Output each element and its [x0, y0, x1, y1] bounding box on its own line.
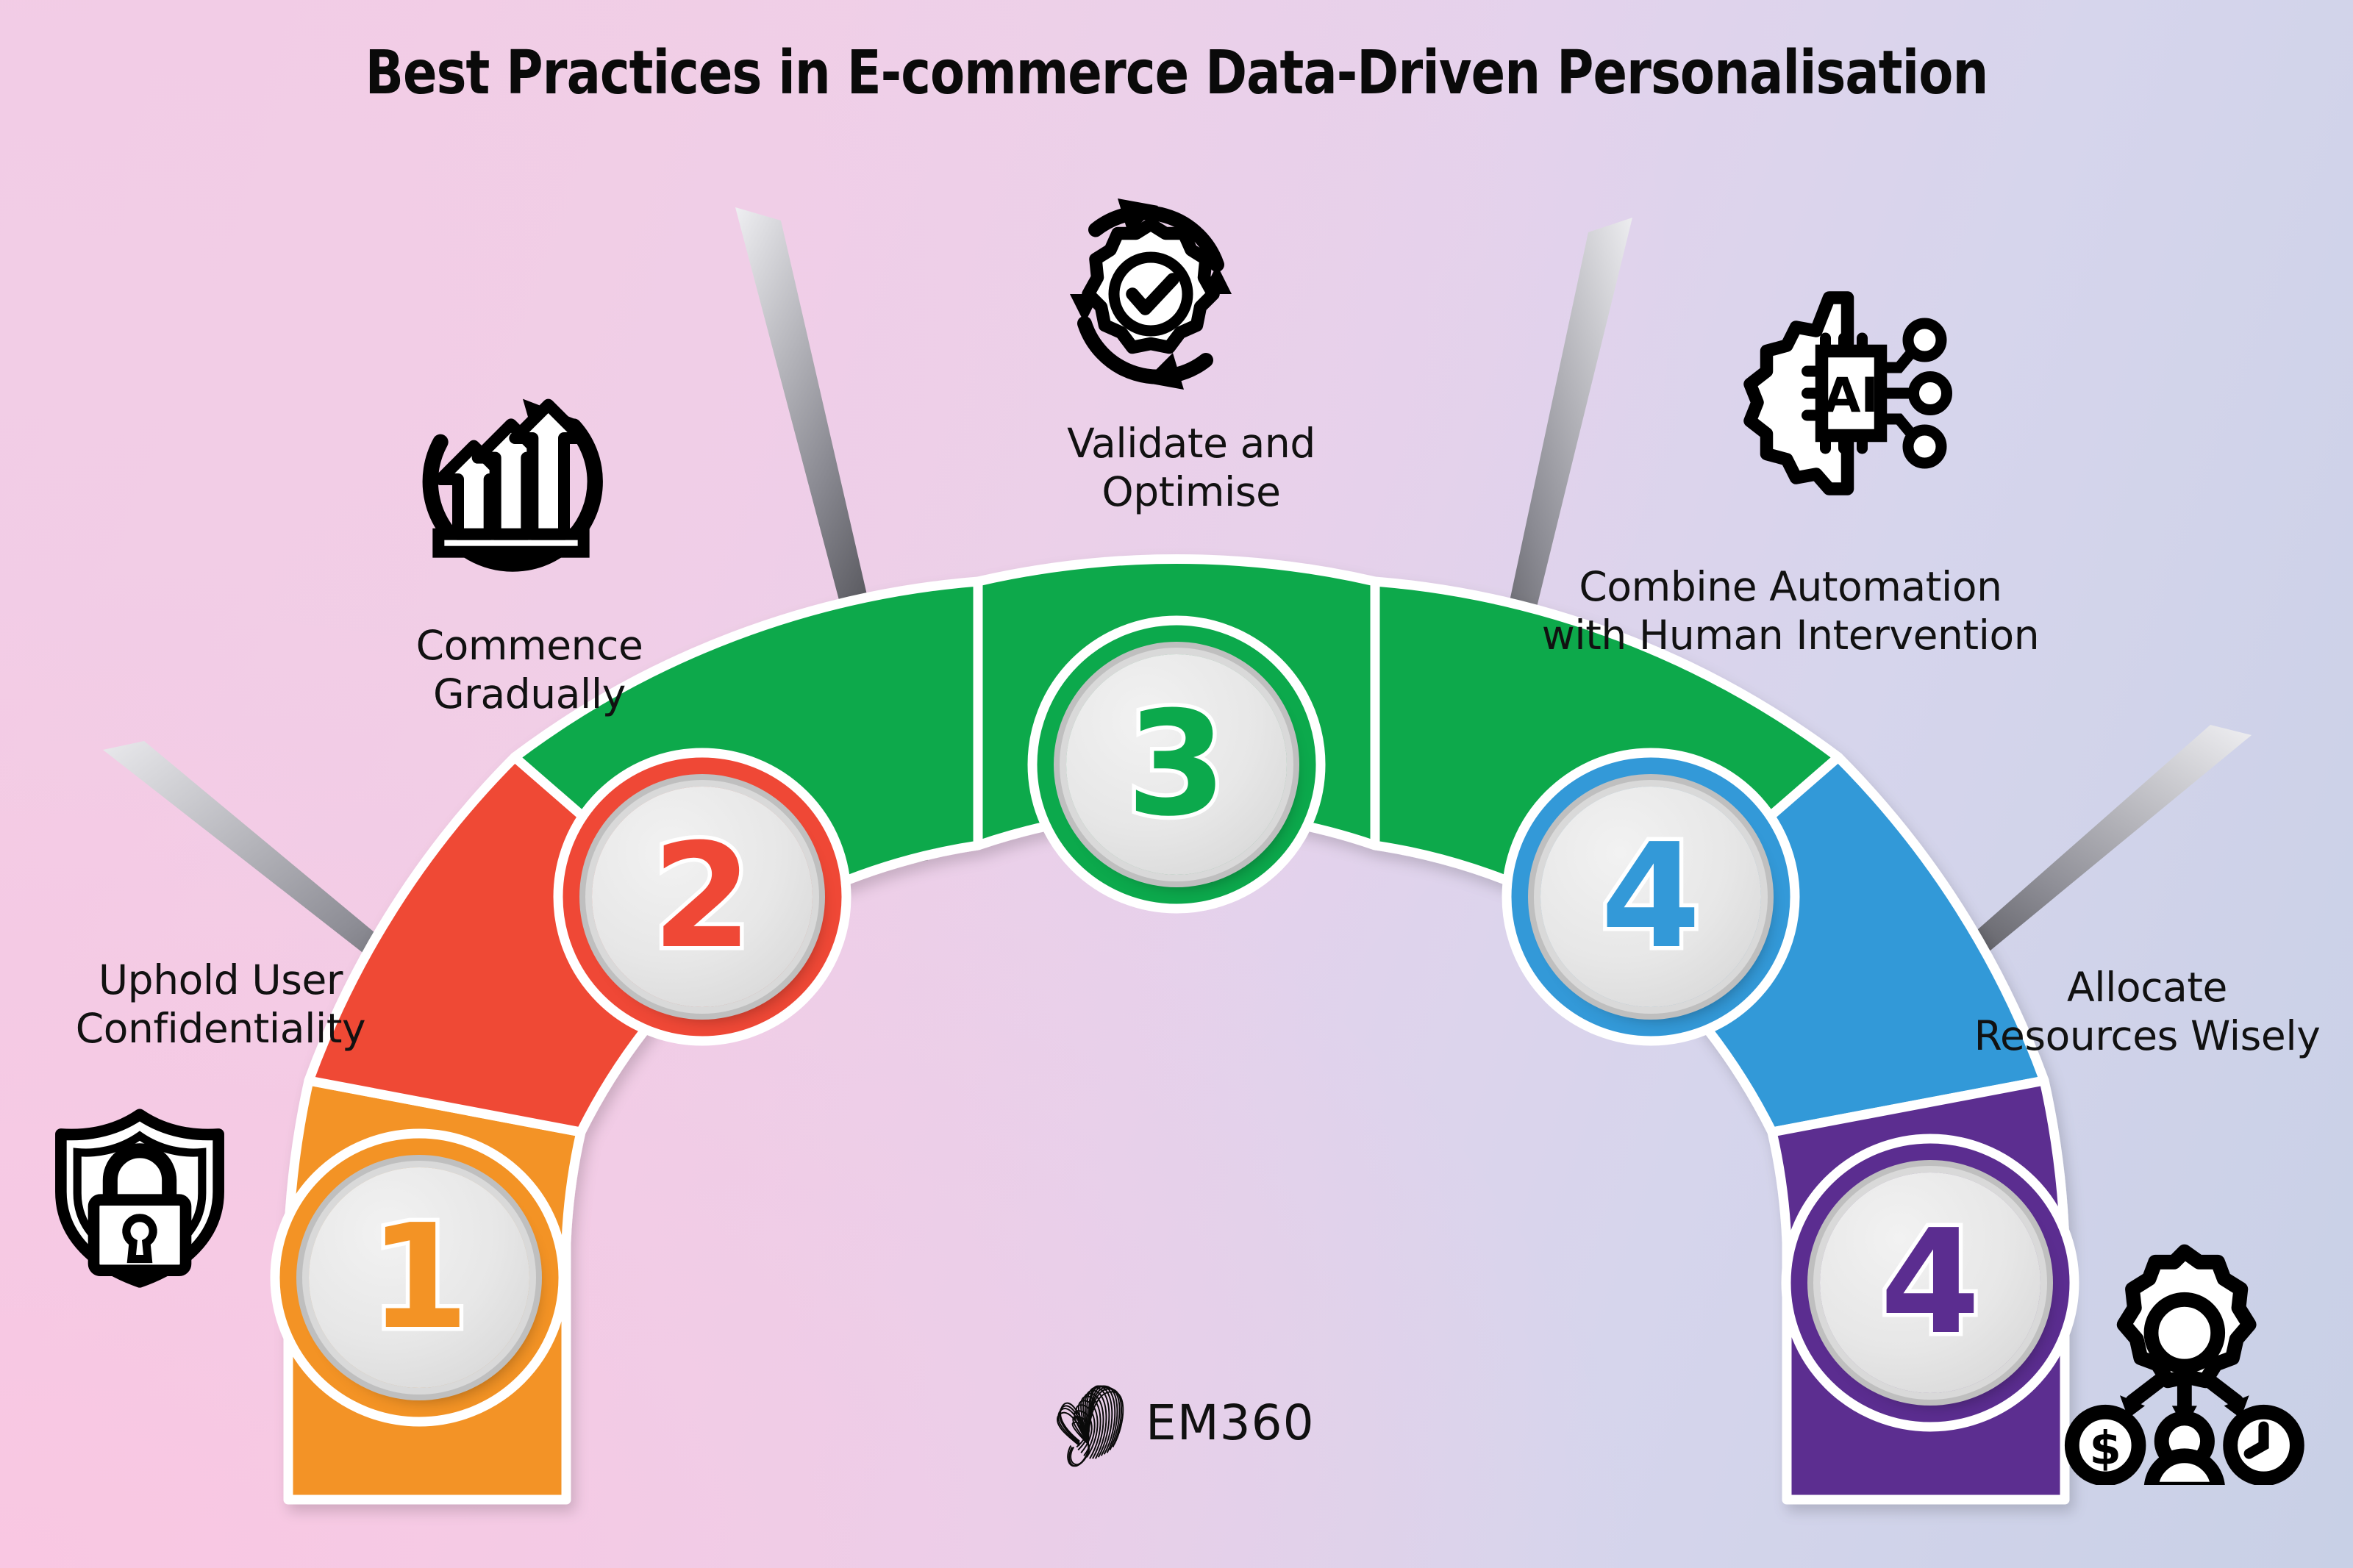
step-badge-1[interactable]: 1 — [309, 1167, 529, 1388]
step-number-1: 1 — [369, 1206, 469, 1350]
step-number-3: 3 — [1126, 692, 1227, 837]
step-label-2: Commence Gradually — [353, 621, 706, 718]
step-label-1: Uphold User Confidentiality — [29, 956, 412, 1053]
step-number-4: 4 — [1601, 825, 1701, 969]
step-number-2: 2 — [652, 825, 752, 969]
step-badge-2[interactable]: 2 — [592, 787, 813, 1007]
svg-text:$: $ — [2089, 1422, 2121, 1475]
infographic-stage: Best Practices in E-commerce Data-Driven… — [0, 0, 2353, 1568]
step-badge-3[interactable]: 3 — [1066, 654, 1287, 875]
em360-fingerprint-mark — [1044, 1375, 1132, 1470]
step-number-5: 4 — [1880, 1211, 1980, 1355]
svg-text:AI: AI — [1824, 368, 1879, 423]
step-label-3: Validate and Optimise — [978, 419, 1404, 516]
shield-lock-icon — [40, 1106, 239, 1293]
growth-arrows-cycle-icon — [393, 368, 629, 606]
step-label-5: Allocate Resources Wisely — [1941, 963, 2353, 1060]
brand-logo[interactable]: EM360 — [1044, 1375, 1315, 1470]
step-badge-4[interactable]: 4 — [1540, 787, 1761, 1007]
ai-chip-gear-icon: AI — [1713, 283, 1956, 506]
brand-name: EM360 — [1146, 1395, 1315, 1451]
resource-allocation-icon: $ — [2059, 1235, 2331, 1488]
step-label-4: Combine Automation with Human Interventi… — [1511, 562, 2070, 659]
step-badge-5[interactable]: 4 — [1820, 1173, 2040, 1393]
gear-check-cycle-icon — [1037, 184, 1265, 407]
